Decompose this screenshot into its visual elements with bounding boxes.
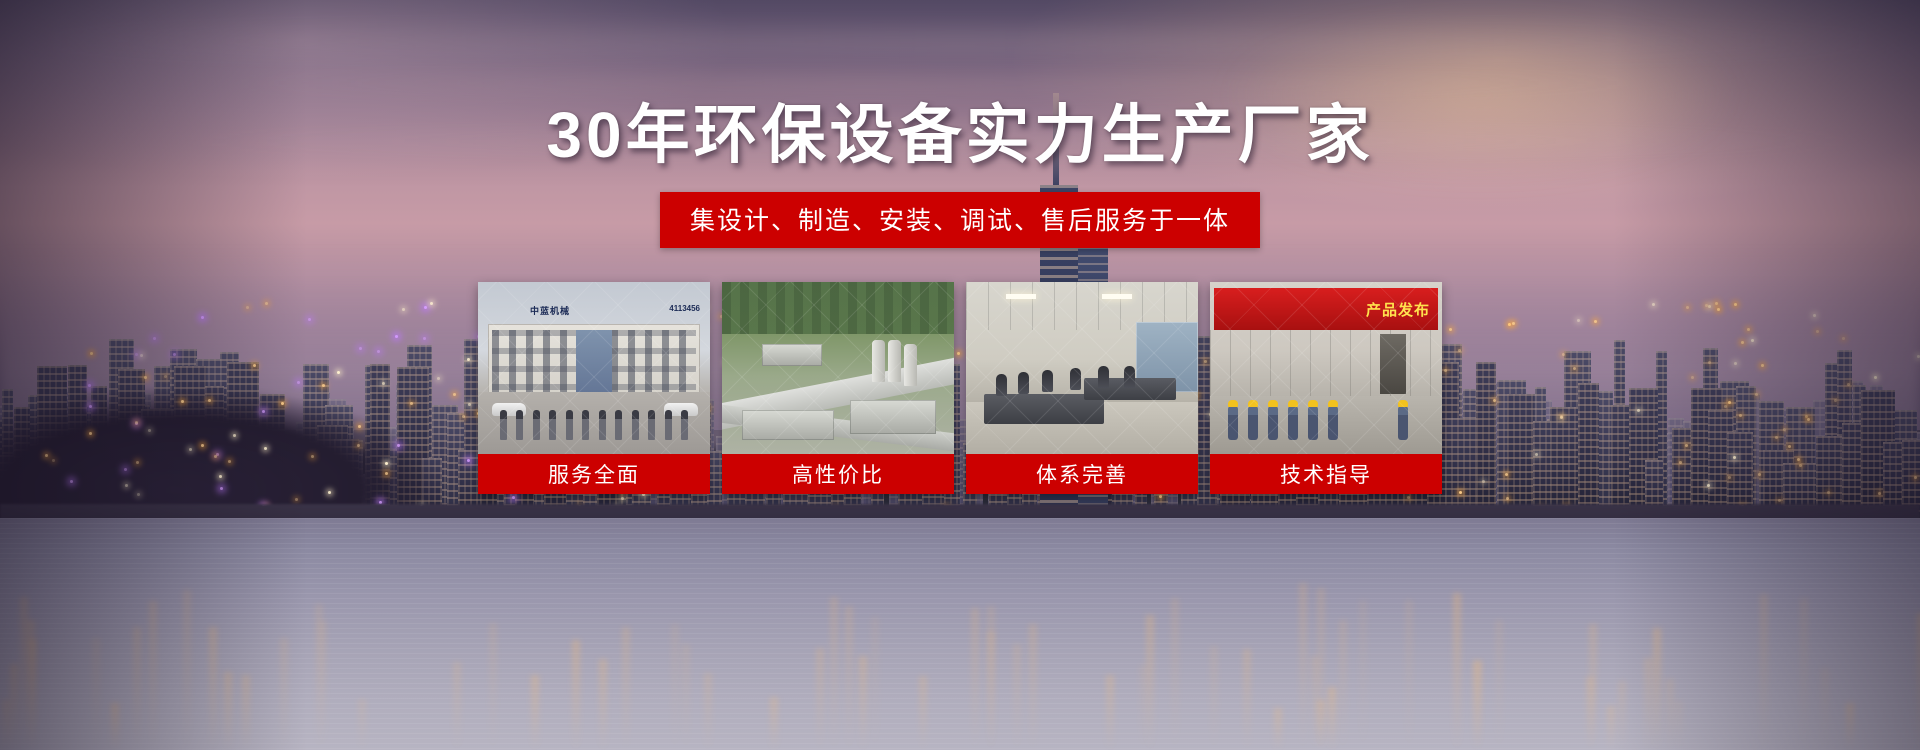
workshop-banner-text: 产品发布 (1366, 299, 1438, 320)
card-caption: 体系完善 (966, 454, 1198, 494)
feature-card[interactable]: 中蓝机械 4113456 服务全面 (478, 282, 710, 494)
storage-silo (872, 340, 885, 382)
hero-banner: 30年环保设备实力生产厂家 集设计、制造、安装、调试、售后服务于一体 中蓝机械 … (0, 0, 1920, 750)
worker (1288, 406, 1298, 440)
storage-silo (888, 340, 901, 382)
seated-person (1098, 366, 1109, 388)
ceiling-light (1102, 294, 1132, 299)
seated-person (1042, 370, 1053, 392)
treeline (722, 282, 954, 334)
seated-person (1124, 366, 1135, 388)
feature-card[interactable]: 产品发布 技术指导 (1210, 282, 1442, 494)
workshop-wall (1210, 330, 1442, 396)
worker (1328, 406, 1338, 440)
worker (1228, 406, 1238, 440)
building-sign-text: 中蓝机械 (530, 304, 570, 317)
banner-headline: 30年环保设备实力生产厂家 (0, 103, 1920, 167)
card-caption: 服务全面 (478, 454, 710, 494)
factory-shed (742, 410, 834, 440)
card-photo: 产品发布 (1210, 282, 1442, 454)
feature-card[interactable]: 体系完善 (966, 282, 1198, 494)
card-caption: 技术指导 (1210, 454, 1442, 494)
staff-lineup (500, 410, 688, 440)
factory-shed (762, 344, 822, 366)
card-caption: 高性价比 (722, 454, 954, 494)
worker (1308, 406, 1318, 440)
seated-person (1018, 372, 1029, 394)
card-photo (966, 282, 1198, 454)
banner-subtitle-bar: 集设计、制造、安装、调试、售后服务于一体 (660, 192, 1260, 248)
seated-person (996, 374, 1007, 396)
worker (1268, 406, 1278, 440)
storage-silo (904, 344, 917, 386)
worker (1248, 406, 1258, 440)
feature-card-row: 中蓝机械 4113456 服务全面 (478, 282, 1442, 494)
building-sign-phone: 4113456 (669, 304, 700, 313)
card-photo: 中蓝机械 4113456 (478, 282, 710, 454)
workshop-door (1380, 334, 1406, 394)
ceiling-light (1006, 294, 1036, 299)
feature-card[interactable]: 高性价比 (722, 282, 954, 494)
banner-content: 30年环保设备实力生产厂家 集设计、制造、安装、调试、售后服务于一体 中蓝机械 … (0, 0, 1920, 750)
worker (1398, 406, 1408, 440)
card-photo (722, 282, 954, 454)
workshop-banner: 产品发布 (1214, 288, 1438, 330)
seated-person (1070, 368, 1081, 390)
factory-shed (850, 400, 936, 434)
